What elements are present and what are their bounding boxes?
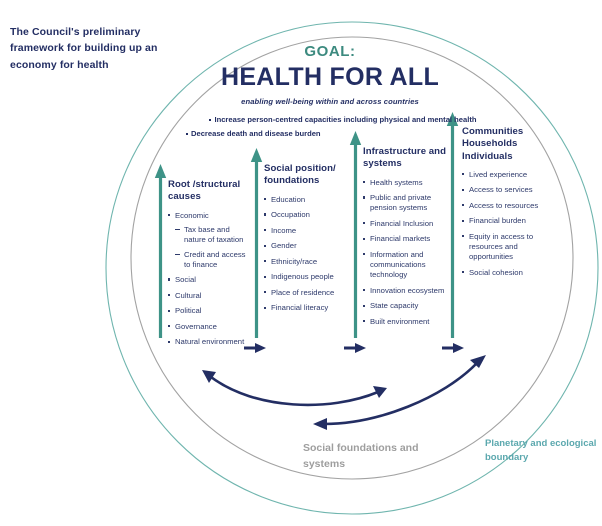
list-item: Financial Inclusion <box>363 219 449 229</box>
list-item: Gender <box>264 241 350 251</box>
goal-bullet: Increase person-centred capacities inclu… <box>160 113 500 127</box>
list-item-label: Financial markets <box>370 234 430 243</box>
list-item: Lived experience <box>462 170 552 180</box>
bullet-dot-icon <box>264 198 266 200</box>
feedback-arc-upper <box>202 370 387 405</box>
bullet-dot-icon <box>264 229 266 231</box>
goal-kicker: GOAL: <box>160 44 500 61</box>
list-item-label: Political <box>175 306 202 315</box>
bullet-dot-icon <box>168 325 170 327</box>
bullet-dot-icon <box>363 320 365 322</box>
list-item: Education <box>264 195 350 205</box>
vertical-arrow-social-position <box>251 148 262 338</box>
list-item: Ethnicity/race <box>264 257 350 267</box>
bullet-dot-icon <box>363 196 365 198</box>
sub-item-list: Tax base and nature of taxation Credit a… <box>175 225 250 270</box>
list-item: Access to resources <box>462 201 552 211</box>
list-item: Place of residence <box>264 288 350 298</box>
list-item-label: Ethnicity/race <box>271 257 317 266</box>
bullet-dot-icon <box>264 213 266 215</box>
framework-diagram: The Council's preliminary framework for … <box>0 0 602 526</box>
list-item: Information and communications technolog… <box>363 250 449 280</box>
list-item-label: Access to services <box>469 185 533 194</box>
bullet-dot-icon <box>462 220 464 222</box>
bullet-dot-icon <box>209 119 211 121</box>
page-title: HEALTH FOR ALL <box>160 63 500 92</box>
column-infrastructure-and-systems: Infrastructure and systems Health system… <box>363 146 449 332</box>
bullet-dot-icon <box>264 276 266 278</box>
list-item-label: Indigenous people <box>271 272 334 281</box>
horizontal-arrow-infrastructure-to-communities <box>442 343 464 353</box>
dash-icon <box>175 229 180 230</box>
list-item: Cultural <box>168 291 250 301</box>
column-social-position-foundations: Social position/ foundations Education O… <box>264 163 350 319</box>
list-item: Access to services <box>462 185 552 195</box>
bullet-dot-icon <box>462 271 464 273</box>
bullet-dot-icon <box>264 245 266 247</box>
list-item-label: Occupation <box>271 210 310 219</box>
bullet-dot-icon <box>363 253 365 255</box>
bullet-dot-icon <box>168 294 170 296</box>
list-item-label: Natural environment <box>175 337 244 346</box>
horizontal-arrow-social-to-infrastructure <box>344 343 366 353</box>
goal-bullet: Decrease death and disease burden <box>160 127 500 141</box>
framework-caption: The Council's preliminary framework for … <box>10 24 170 73</box>
goal-bullet-label: Increase person-centred capacities inclu… <box>214 115 476 124</box>
column-heading: Root /structural causes <box>168 179 250 204</box>
bullet-dot-icon <box>264 260 266 262</box>
list-item: State capacity <box>363 301 449 311</box>
list-item: Innovation ecosystem <box>363 286 449 296</box>
bullet-dot-icon <box>462 204 464 206</box>
list-item-label: Financial Inclusion <box>370 219 433 228</box>
list-item: Economic Tax base and nature of taxation… <box>168 211 250 270</box>
list-item: Natural environment <box>168 337 250 347</box>
column-root-structural-causes: Root /structural causes Economic Tax bas… <box>168 179 250 353</box>
bullet-dot-icon <box>363 305 365 307</box>
sub-list-item: Credit and access to finance <box>175 250 250 270</box>
list-item-label: Innovation ecosystem <box>370 286 444 295</box>
dash-icon <box>175 254 180 255</box>
list-item: Social <box>168 275 250 285</box>
goal-bullet-label: Decrease death and disease burden <box>191 129 321 138</box>
vertical-arrow-root <box>155 164 166 338</box>
bullet-dot-icon <box>168 310 170 312</box>
list-item: Indigenous people <box>264 272 350 282</box>
list-item-label: Gender <box>271 241 297 250</box>
bullet-dot-icon <box>168 278 170 280</box>
bullet-dot-icon <box>168 341 170 343</box>
sub-list-item: Tax base and nature of taxation <box>175 225 250 245</box>
list-item: Financial burden <box>462 216 552 226</box>
list-item-label: Social cohesion <box>469 268 523 277</box>
list-item: Income <box>264 226 350 236</box>
bullet-dot-icon <box>363 181 365 183</box>
bullet-dot-icon <box>363 289 365 291</box>
list-item: Occupation <box>264 210 350 220</box>
list-item-label: Education <box>271 195 305 204</box>
bullet-dot-icon <box>462 189 464 191</box>
list-item-label: Access to resources <box>469 201 538 210</box>
column-item-list: Lived experience Access to services Acce… <box>462 170 552 278</box>
bullet-dot-icon <box>462 235 464 237</box>
bullet-dot-icon <box>264 307 266 309</box>
column-communities-households-individuals: Communities Households Individuals Lived… <box>462 126 552 283</box>
list-item-label: Financial burden <box>469 216 526 225</box>
list-item-label: Income <box>271 226 296 235</box>
list-item: Financial markets <box>363 234 449 244</box>
list-item: Equity in access to resources and opport… <box>462 232 552 262</box>
social-foundations-label: Social foundations and systems <box>303 440 453 473</box>
list-item-label: Economic <box>175 211 209 220</box>
feedback-arc-lower <box>313 355 486 430</box>
list-item-label: Social <box>175 275 196 284</box>
list-item-label: Governance <box>175 322 217 331</box>
list-item: Built environment <box>363 317 449 327</box>
list-item-label: Financial literacy <box>271 303 328 312</box>
list-item: Financial literacy <box>264 303 350 313</box>
list-item-label: Equity in access to resources and opport… <box>469 232 533 261</box>
bullet-dot-icon <box>462 173 464 175</box>
column-item-list: Education Occupation Income Gender Ethni… <box>264 195 350 314</box>
bullet-dot-icon <box>186 133 188 135</box>
list-item: Public and private pension systems <box>363 193 449 213</box>
goal-block: GOAL: HEALTH FOR ALL enabling well-being… <box>160 44 500 141</box>
goal-bullet-list: Increase person-centred capacities inclu… <box>160 113 500 141</box>
column-heading: Social position/ foundations <box>264 163 350 188</box>
bullet-dot-icon <box>168 214 170 216</box>
list-item-label: Lived experience <box>469 170 527 179</box>
list-item: Political <box>168 306 250 316</box>
bullet-dot-icon <box>363 238 365 240</box>
list-item: Governance <box>168 322 250 332</box>
list-item-label: Information and communications technolog… <box>370 250 426 279</box>
sub-list-item-label: Credit and access to finance <box>184 250 246 269</box>
column-heading: Infrastructure and systems <box>363 146 449 171</box>
planetary-boundary-label: Planetary and ecological boundary <box>485 437 600 466</box>
bullet-dot-icon <box>363 222 365 224</box>
column-item-list: Economic Tax base and nature of taxation… <box>168 211 250 348</box>
column-item-list: Health systems Public and private pensio… <box>363 178 449 327</box>
sub-list-item-label: Tax base and nature of taxation <box>184 225 243 244</box>
vertical-arrow-infrastructure <box>350 131 361 338</box>
list-item-label: Health systems <box>370 178 423 187</box>
list-item-label: Built environment <box>370 317 429 326</box>
list-item: Social cohesion <box>462 268 552 278</box>
list-item-label: Cultural <box>175 291 202 300</box>
list-item: Health systems <box>363 178 449 188</box>
list-item-label: State capacity <box>370 301 418 310</box>
column-heading: Communities Households Individuals <box>462 126 552 163</box>
bullet-dot-icon <box>264 291 266 293</box>
list-item-label: Place of residence <box>271 288 334 297</box>
goal-subtitle: enabling well-being within and across co… <box>160 97 500 106</box>
list-item-label: Public and private pension systems <box>370 193 431 212</box>
